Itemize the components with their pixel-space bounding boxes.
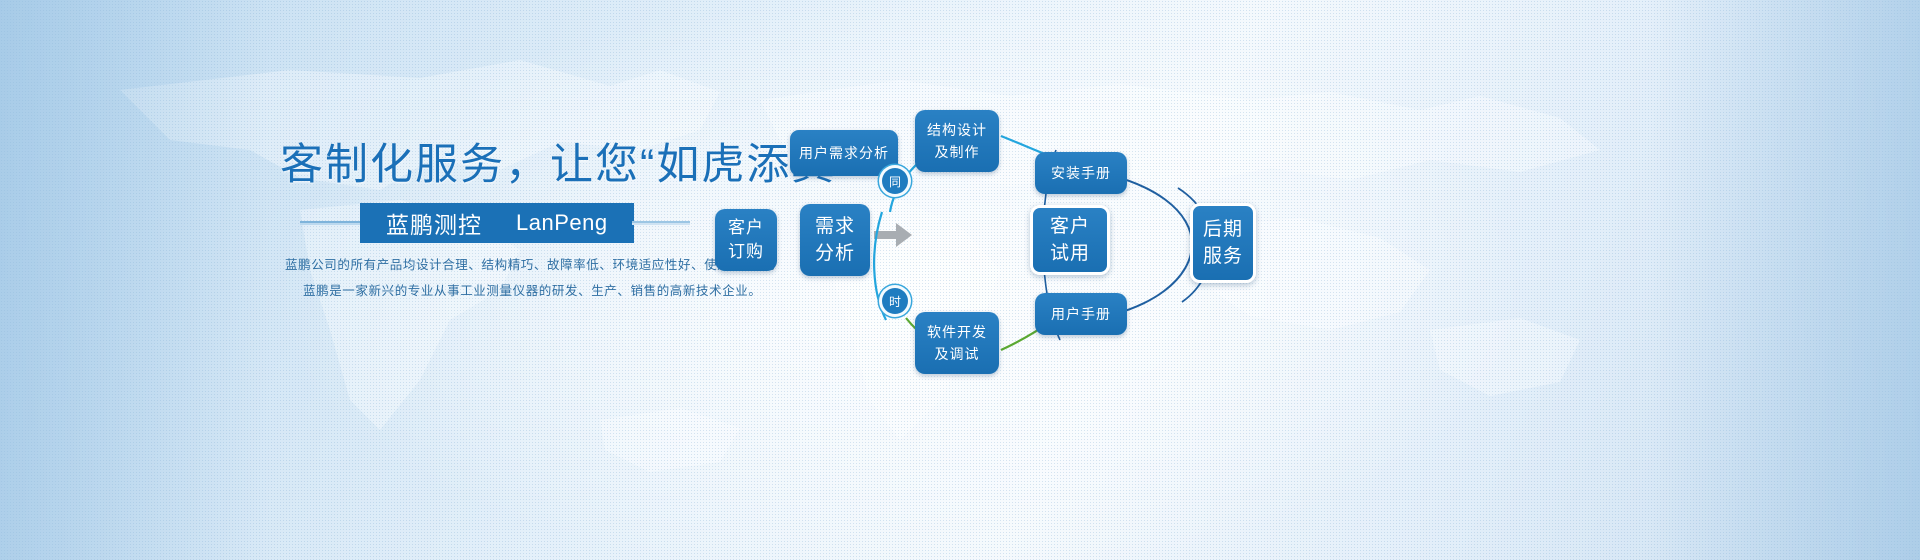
node-line: 结构设计 bbox=[927, 119, 987, 141]
badge-label: 同 bbox=[889, 173, 901, 190]
ribbon-left-rule bbox=[300, 221, 362, 225]
copy-block: 客制化服务，让您“如虎添翼” 蓝鹏测控 LanPeng 蓝鹏公司的所有产品均设计… bbox=[0, 0, 860, 560]
process-flow-diagram: 用户需求分析 客户 订购 需求 分析 结构设计 及制作 软件开发 及调试 安装手… bbox=[860, 0, 1920, 560]
node-line: 需求 bbox=[815, 213, 855, 240]
node-line: 用户需求分析 bbox=[799, 143, 889, 163]
badge-shi: 时 bbox=[882, 288, 908, 314]
badge-label: 时 bbox=[889, 293, 901, 310]
headline: 客制化服务，让您“如虎添翼” bbox=[280, 138, 853, 192]
node-line: 安装手册 bbox=[1051, 163, 1111, 183]
node-line: 及制作 bbox=[935, 141, 980, 163]
node-customer-order[interactable]: 客户 订购 bbox=[715, 209, 777, 271]
banner-stage: 客制化服务，让您“如虎添翼” 蓝鹏测控 LanPeng 蓝鹏公司的所有产品均设计… bbox=[0, 0, 1920, 560]
node-line: 服务 bbox=[1203, 243, 1243, 270]
node-line: 试用 bbox=[1050, 240, 1090, 267]
node-customer-trial[interactable]: 客户 试用 bbox=[1030, 205, 1110, 275]
node-line: 订购 bbox=[728, 240, 764, 264]
description-line-2: 蓝鹏是一家新兴的专业从事工业测量仪器的研发、生产、销售的高新技术企业。 bbox=[285, 278, 845, 304]
node-user-requirement-analysis[interactable]: 用户需求分析 bbox=[790, 130, 898, 176]
flow-connectors bbox=[860, 0, 1920, 560]
badge-tong: 同 bbox=[882, 168, 908, 194]
ribbon-right-rule bbox=[632, 221, 690, 225]
node-requirement-analysis[interactable]: 需求 分析 bbox=[800, 204, 870, 276]
node-line: 及调试 bbox=[935, 343, 980, 365]
node-user-manual[interactable]: 用户手册 bbox=[1035, 293, 1127, 335]
node-line: 后期 bbox=[1203, 216, 1243, 243]
brand-name-en: LanPeng bbox=[516, 210, 608, 236]
node-line: 软件开发 bbox=[927, 321, 987, 343]
node-line: 分析 bbox=[815, 240, 855, 267]
node-line: 客户 bbox=[1050, 213, 1090, 240]
node-line: 用户手册 bbox=[1051, 304, 1111, 324]
node-installation-manual[interactable]: 安装手册 bbox=[1035, 152, 1127, 194]
node-software-development[interactable]: 软件开发 及调试 bbox=[915, 312, 999, 374]
node-structure-design[interactable]: 结构设计 及制作 bbox=[915, 110, 999, 172]
node-line: 客户 bbox=[728, 216, 764, 240]
brand-ribbon: 蓝鹏测控 LanPeng bbox=[300, 203, 690, 243]
node-after-service[interactable]: 后期 服务 bbox=[1190, 203, 1256, 283]
ribbon-body: 蓝鹏测控 LanPeng bbox=[360, 203, 634, 243]
brand-name-cn: 蓝鹏测控 bbox=[386, 206, 482, 240]
